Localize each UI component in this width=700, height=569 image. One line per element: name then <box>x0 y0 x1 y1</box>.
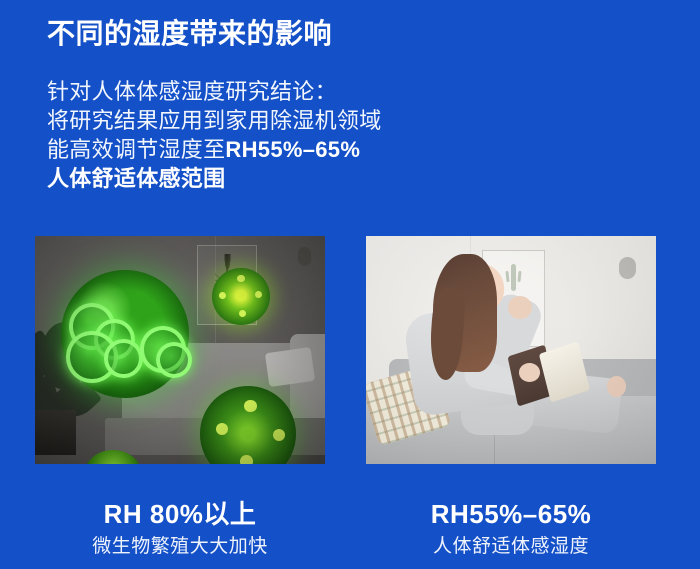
intro-line-1: 针对人体体感湿度研究结论： <box>47 77 382 106</box>
humidity-impact-slide: 不同的湿度带来的影响 针对人体体感湿度研究结论： 将研究结果应用到家用除湿机领域… <box>0 0 700 569</box>
scene-vignette <box>35 236 325 464</box>
caption-subtitle: 微生物繁殖大大加快 <box>35 534 325 559</box>
photo-high-humidity <box>35 236 325 464</box>
intro-line-3-text: 能高效调节湿度至 <box>47 137 225 162</box>
caption-title: RH55%–65% <box>366 498 656 530</box>
caption-comfort-humidity: RH55%–65% 人体舒适体感湿度 <box>366 498 656 559</box>
intro-line-4: 人体舒适体感范围 <box>47 164 382 193</box>
caption-subtitle: 人体舒适体感湿度 <box>366 534 656 559</box>
photo-comfort-humidity <box>366 236 656 464</box>
caption-title: RH 80%以上 <box>35 498 325 530</box>
intro-line-3: 能高效调节湿度至RH55%–65% <box>47 135 382 164</box>
intro-line-3-highlight: RH55%–65% <box>225 137 360 162</box>
bright-room-scene <box>366 236 656 464</box>
intro-paragraph: 针对人体体感湿度研究结论： 将研究结果应用到家用除湿机领域 能高效调节湿度至RH… <box>47 77 382 193</box>
scene-vignette <box>366 236 656 464</box>
page-title: 不同的湿度带来的影响 <box>47 17 332 51</box>
intro-line-2: 将研究结果应用到家用除湿机领域 <box>47 106 382 135</box>
caption-high-humidity: RH 80%以上 微生物繁殖大大加快 <box>35 498 325 559</box>
dim-room-scene <box>35 236 325 464</box>
